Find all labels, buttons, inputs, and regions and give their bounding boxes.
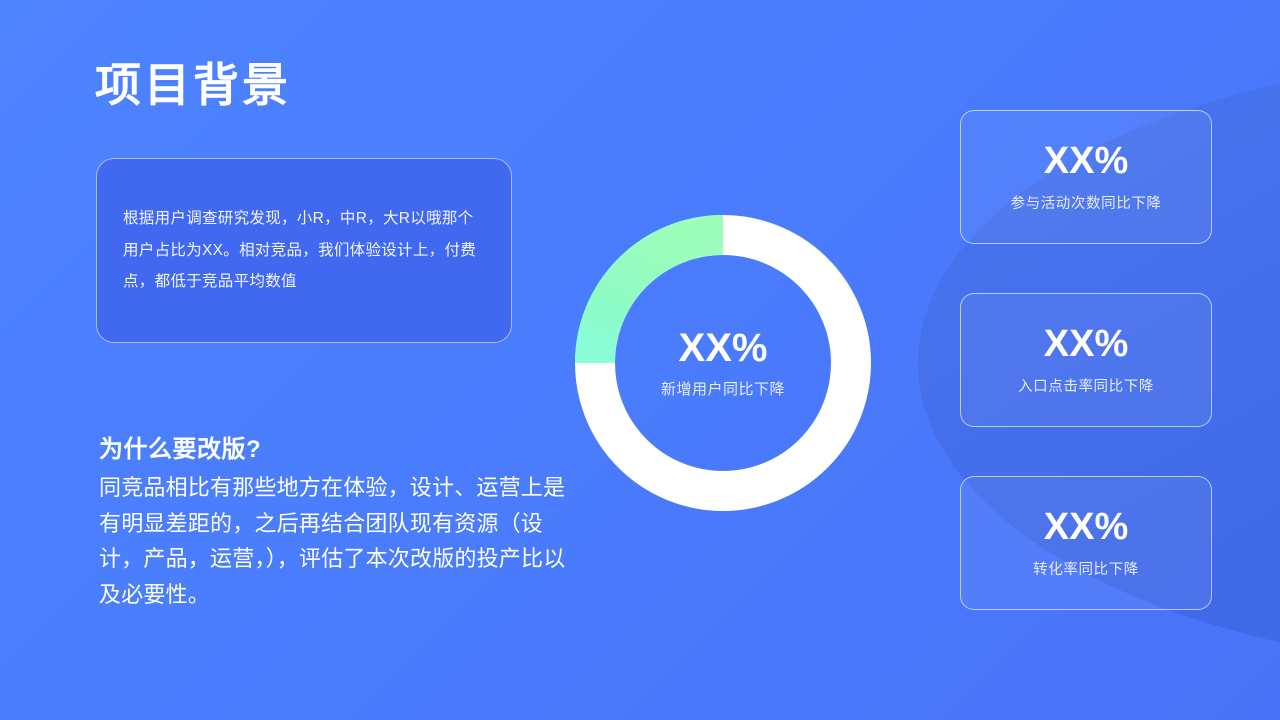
page-title: 项目背景 xyxy=(95,58,291,113)
stat-card-activity-count[interactable]: XX% 参与活动次数同比下降 xyxy=(960,110,1212,244)
stat-card-label: 入口点击率同比下降 xyxy=(1018,375,1154,396)
stat-card-value: XX% xyxy=(1044,508,1128,546)
stat-card-value: XX% xyxy=(1044,142,1128,180)
donut-center-value: XX% xyxy=(679,328,768,368)
stat-card-value: XX% xyxy=(1044,325,1128,363)
why-redesign-heading: 为什么要改版? xyxy=(99,429,261,464)
stat-card-conversion-rate[interactable]: XX% 转化率同比下降 xyxy=(960,476,1212,610)
stat-card-label: 转化率同比下降 xyxy=(1033,558,1139,579)
description-card: 根据用户调查研究发现，小R，中R，大R以哦那个用户占比为XX。相对竞品，我们体验… xyxy=(96,158,512,343)
description-card-text: 根据用户调查研究发现，小R，中R，大R以哦那个用户占比为XX。相对竞品，我们体验… xyxy=(97,203,511,298)
slide-root: 项目背景 根据用户调查研究发现，小R，中R，大R以哦那个用户占比为XX。相对竞品… xyxy=(0,0,1280,720)
donut-center-labels: XX% 新增用户同比下降 xyxy=(575,215,871,511)
why-redesign-body: 同竞品相比有那些地方在体验，设计、运营上是有明显差距的，之后再结合团队现有资源（… xyxy=(99,470,569,613)
stat-card-entry-ctr[interactable]: XX% 入口点击率同比下降 xyxy=(960,293,1212,427)
donut-chart: XX% 新增用户同比下降 xyxy=(575,215,871,511)
donut-center-label: 新增用户同比下降 xyxy=(661,378,785,399)
stat-card-label: 参与活动次数同比下降 xyxy=(1011,192,1162,213)
